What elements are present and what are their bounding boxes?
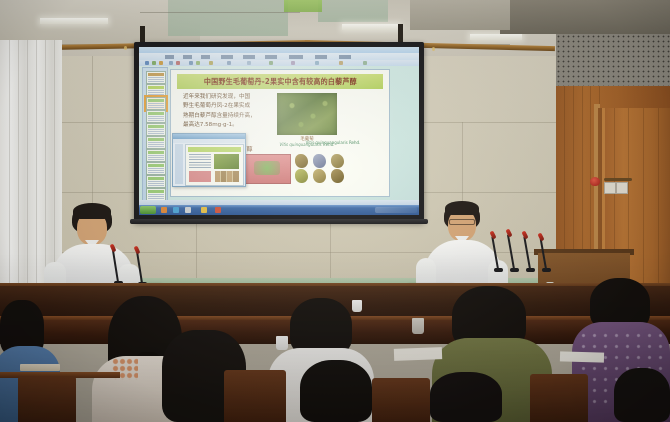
taskbar-icon[interactable] <box>161 207 167 213</box>
grapevine-photo <box>277 93 337 135</box>
ceiling-recess <box>168 0 288 36</box>
fruit-sample-image <box>331 154 344 168</box>
slide-thumbnail[interactable] <box>146 136 166 149</box>
audience-chair <box>530 374 588 422</box>
audience-chair <box>224 370 286 422</box>
audience-notebook <box>20 364 60 371</box>
slide-body-line: 熟期白藜芦醇含量持续升高， <box>183 113 271 120</box>
fruit-sample-image <box>295 154 308 168</box>
speaker-right-hair-top <box>445 201 479 215</box>
slide-body-line: 野生毛葡萄丹凤-2在果实成 <box>183 103 271 110</box>
slide-body-line: 最高达7.58mg·g-1。 <box>183 122 271 129</box>
paper-cup <box>352 300 362 312</box>
taskbar-icon[interactable] <box>185 207 191 213</box>
inner-window-toolbar[interactable] <box>173 139 245 143</box>
fruit-sample-image <box>331 169 344 183</box>
slide-thumbnail[interactable] <box>146 110 166 123</box>
taskbar-icon[interactable] <box>215 207 221 213</box>
projector-screen: 中国野生毛葡萄丹-2果实中含有较高的白藜芦醇 近年来我们研究发现，中国 野生毛葡… <box>139 47 419 215</box>
system-tray[interactable] <box>375 207 417 213</box>
ceiling-light <box>470 34 522 40</box>
ceiling-seam <box>140 12 300 13</box>
wall-panel-seam <box>196 222 197 286</box>
rail-fitting <box>124 46 127 50</box>
audience-paper <box>394 347 442 361</box>
ceiling-light <box>40 18 108 24</box>
taskbar-icon[interactable] <box>173 207 179 213</box>
slide-title-banner: 中国野生毛葡萄丹-2果实中含有较高的白藜芦醇 <box>177 74 383 89</box>
slide-thumbnail[interactable] <box>146 123 166 136</box>
inner-window-thumbnail-strip[interactable] <box>175 144 183 184</box>
ppt-toolbar[interactable] <box>139 60 419 66</box>
rail-fitting <box>432 47 435 51</box>
slide-body-text: 近年来我们研究发现，中国 野生毛葡萄丹凤-2在果实成 熟期白藜芦醇含量持续升高，… <box>183 94 271 132</box>
taskbar-icon[interactable] <box>201 207 207 213</box>
paper-cup <box>276 336 288 350</box>
ceiling-recess <box>318 0 388 22</box>
fire-alarm-bell-icon <box>590 177 600 186</box>
door-handle[interactable] <box>604 178 632 181</box>
fruit-sample-image <box>313 154 326 168</box>
slide-thumbnail-panel[interactable] <box>142 67 168 202</box>
slide-thumbnail[interactable] <box>146 175 166 188</box>
fruit-sample-image <box>313 169 326 183</box>
eyeglasses <box>449 219 475 225</box>
ppt-menu-bar[interactable] <box>139 53 419 60</box>
ceiling-recess-green <box>284 0 322 12</box>
inner-window-slide <box>185 144 244 186</box>
ceiling-panel <box>410 0 510 30</box>
conference-room-photo: 中国野生毛葡萄丹-2果实中含有较高的白藜芦醇 近年来我们研究发现，中国 野生毛葡… <box>0 0 670 422</box>
audience-chair <box>18 376 76 422</box>
wall-switch[interactable] <box>604 182 616 194</box>
slide-thumbnail[interactable] <box>146 162 166 175</box>
slide-thumbnail[interactable] <box>146 149 166 162</box>
ceiling-panel-dark <box>500 0 670 34</box>
slide-body-line: 近年来我们研究发现，中国 <box>183 94 271 101</box>
wall-switch[interactable] <box>616 182 628 194</box>
audience-chair <box>372 378 430 422</box>
slide-title-text: 中国野生毛葡萄丹-2果实中含有较高的白藜芦醇 <box>204 76 357 87</box>
speaker-left-hair-top <box>73 203 111 219</box>
paper-cup <box>412 318 424 334</box>
slide-section-label: Vitis quinquangularis Rehd. <box>283 140 383 145</box>
acoustic-ceiling-panel <box>556 34 670 88</box>
ceiling-light <box>342 24 400 30</box>
windows-taskbar[interactable] <box>139 205 419 215</box>
wall-panel-seam <box>330 222 331 286</box>
start-button[interactable] <box>140 206 156 214</box>
slide-thumbnail[interactable] <box>146 84 166 97</box>
slide-thumbnail[interactable] <box>146 71 166 84</box>
audience-paper <box>560 351 604 362</box>
inner-preview-window[interactable] <box>172 133 246 187</box>
gel-electrophoresis-image <box>245 154 291 184</box>
projector-screen-bottom-bar <box>130 219 428 224</box>
slide-thumbnail-selected[interactable] <box>146 97 166 110</box>
fruit-sample-image <box>295 169 308 183</box>
